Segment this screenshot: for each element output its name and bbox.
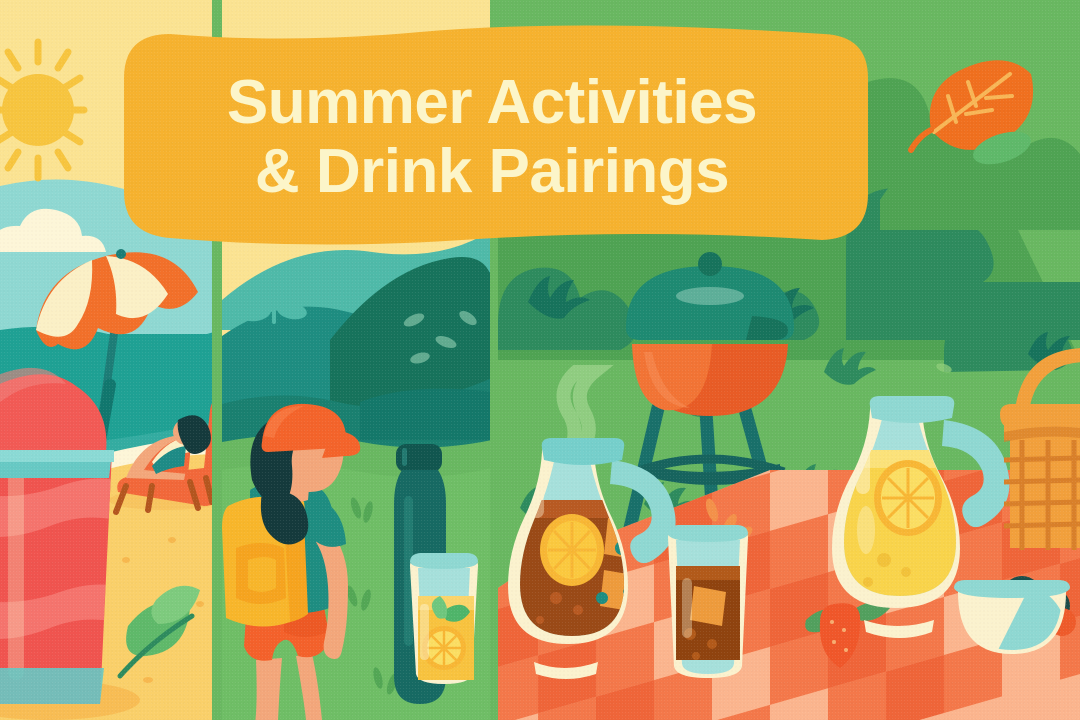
illustration-canvas — [0, 0, 1080, 720]
lemon-slice — [874, 460, 942, 536]
iced-tea-glass — [668, 525, 748, 690]
title-banner-shape — [124, 25, 868, 244]
summer-illustration-poster: Summer Activities & Drink Pairings — [0, 0, 1080, 720]
lemon-slice — [540, 514, 604, 586]
lemonade-glass — [410, 553, 478, 690]
